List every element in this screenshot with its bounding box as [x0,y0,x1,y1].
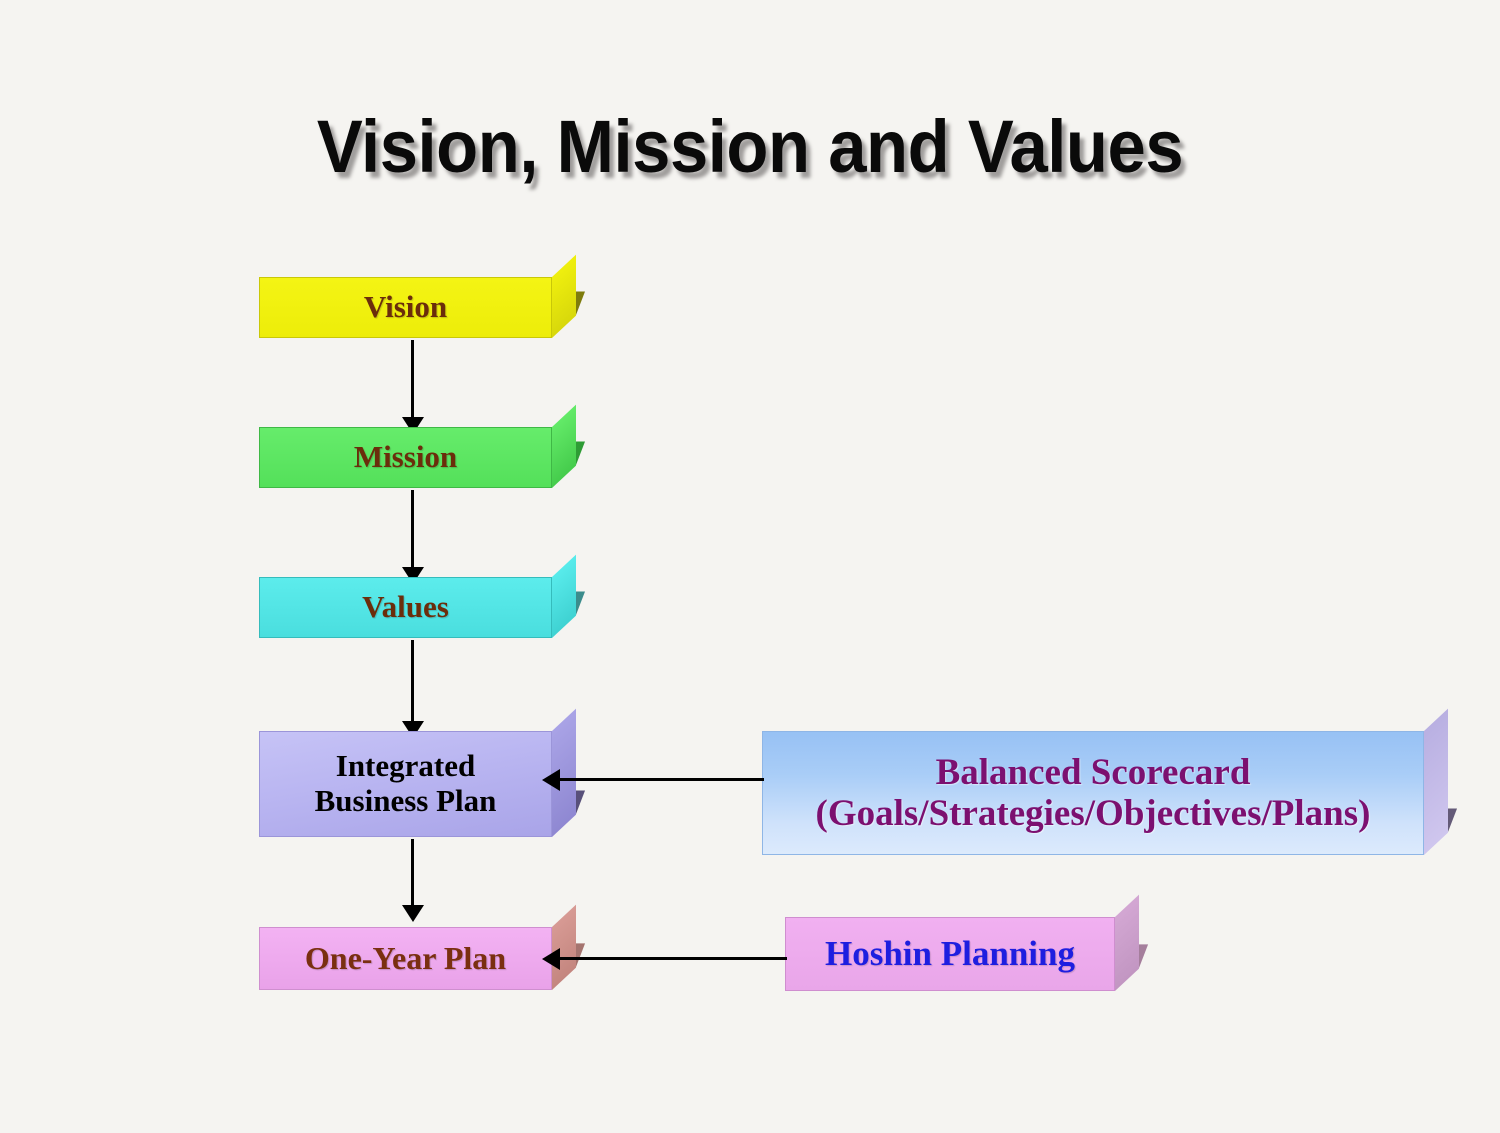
node-label-balanced-scorecard-line2: (Goals/Strategies/Objectives/Plans) [763,793,1423,834]
values-box-side-face [552,555,576,638]
arrow-hoshin-planning-to-one-year-plan [558,957,787,960]
node-values[interactable]: Values [259,577,552,638]
integrated-business-plan-box-front-face: Integrated Business Plan [259,731,552,837]
node-label-one-year-plan: One-Year Plan [260,941,551,977]
node-balanced-scorecard[interactable]: Balanced Scorecard (Goals/Strategies/Obj… [762,731,1424,855]
arrow-integrated-business-plan-to-one-year-plan [411,839,414,907]
node-label-mission: Mission [260,440,551,475]
node-vision[interactable]: Vision [259,277,552,338]
node-label-integrated-business-plan-line1: Integrated [260,749,551,784]
page-title: Vision, Mission and Values [53,104,1448,189]
node-label-integrated-business-plan-line2: Business Plan [260,784,551,819]
mission-box-front-face: Mission [259,427,552,488]
node-integrated-business-plan[interactable]: Integrated Business Plan [259,731,552,837]
one-year-plan-box-front-face: One-Year Plan [259,927,552,990]
node-hoshin-planning[interactable]: Hoshin Planning [785,917,1115,991]
balanced-scorecard-box-front-face: Balanced Scorecard (Goals/Strategies/Obj… [762,731,1424,855]
values-box-front-face: Values [259,577,552,638]
arrow-vision-to-mission [411,340,414,419]
hoshin-planning-box-side-face [1115,895,1139,991]
diagram-canvas: Vision, Mission and Values Vision Missio… [0,0,1500,1133]
node-label-balanced-scorecard-line1: Balanced Scorecard [763,752,1423,793]
arrow-values-to-integrated-business-plan [411,640,414,723]
node-label-values: Values [260,590,551,625]
vision-box-side-face [552,255,576,338]
arrow-balanced-scorecard-to-integrated-business-plan [558,778,764,781]
mission-box-side-face [552,405,576,488]
balanced-scorecard-box-side-face [1424,709,1448,855]
hoshin-planning-box-front-face: Hoshin Planning [785,917,1115,991]
node-mission[interactable]: Mission [259,427,552,488]
node-one-year-plan[interactable]: One-Year Plan [259,927,552,990]
node-label-vision: Vision [260,290,551,325]
node-label-hoshin-planning: Hoshin Planning [786,934,1114,973]
vision-box-front-face: Vision [259,277,552,338]
arrow-mission-to-values [411,490,414,569]
